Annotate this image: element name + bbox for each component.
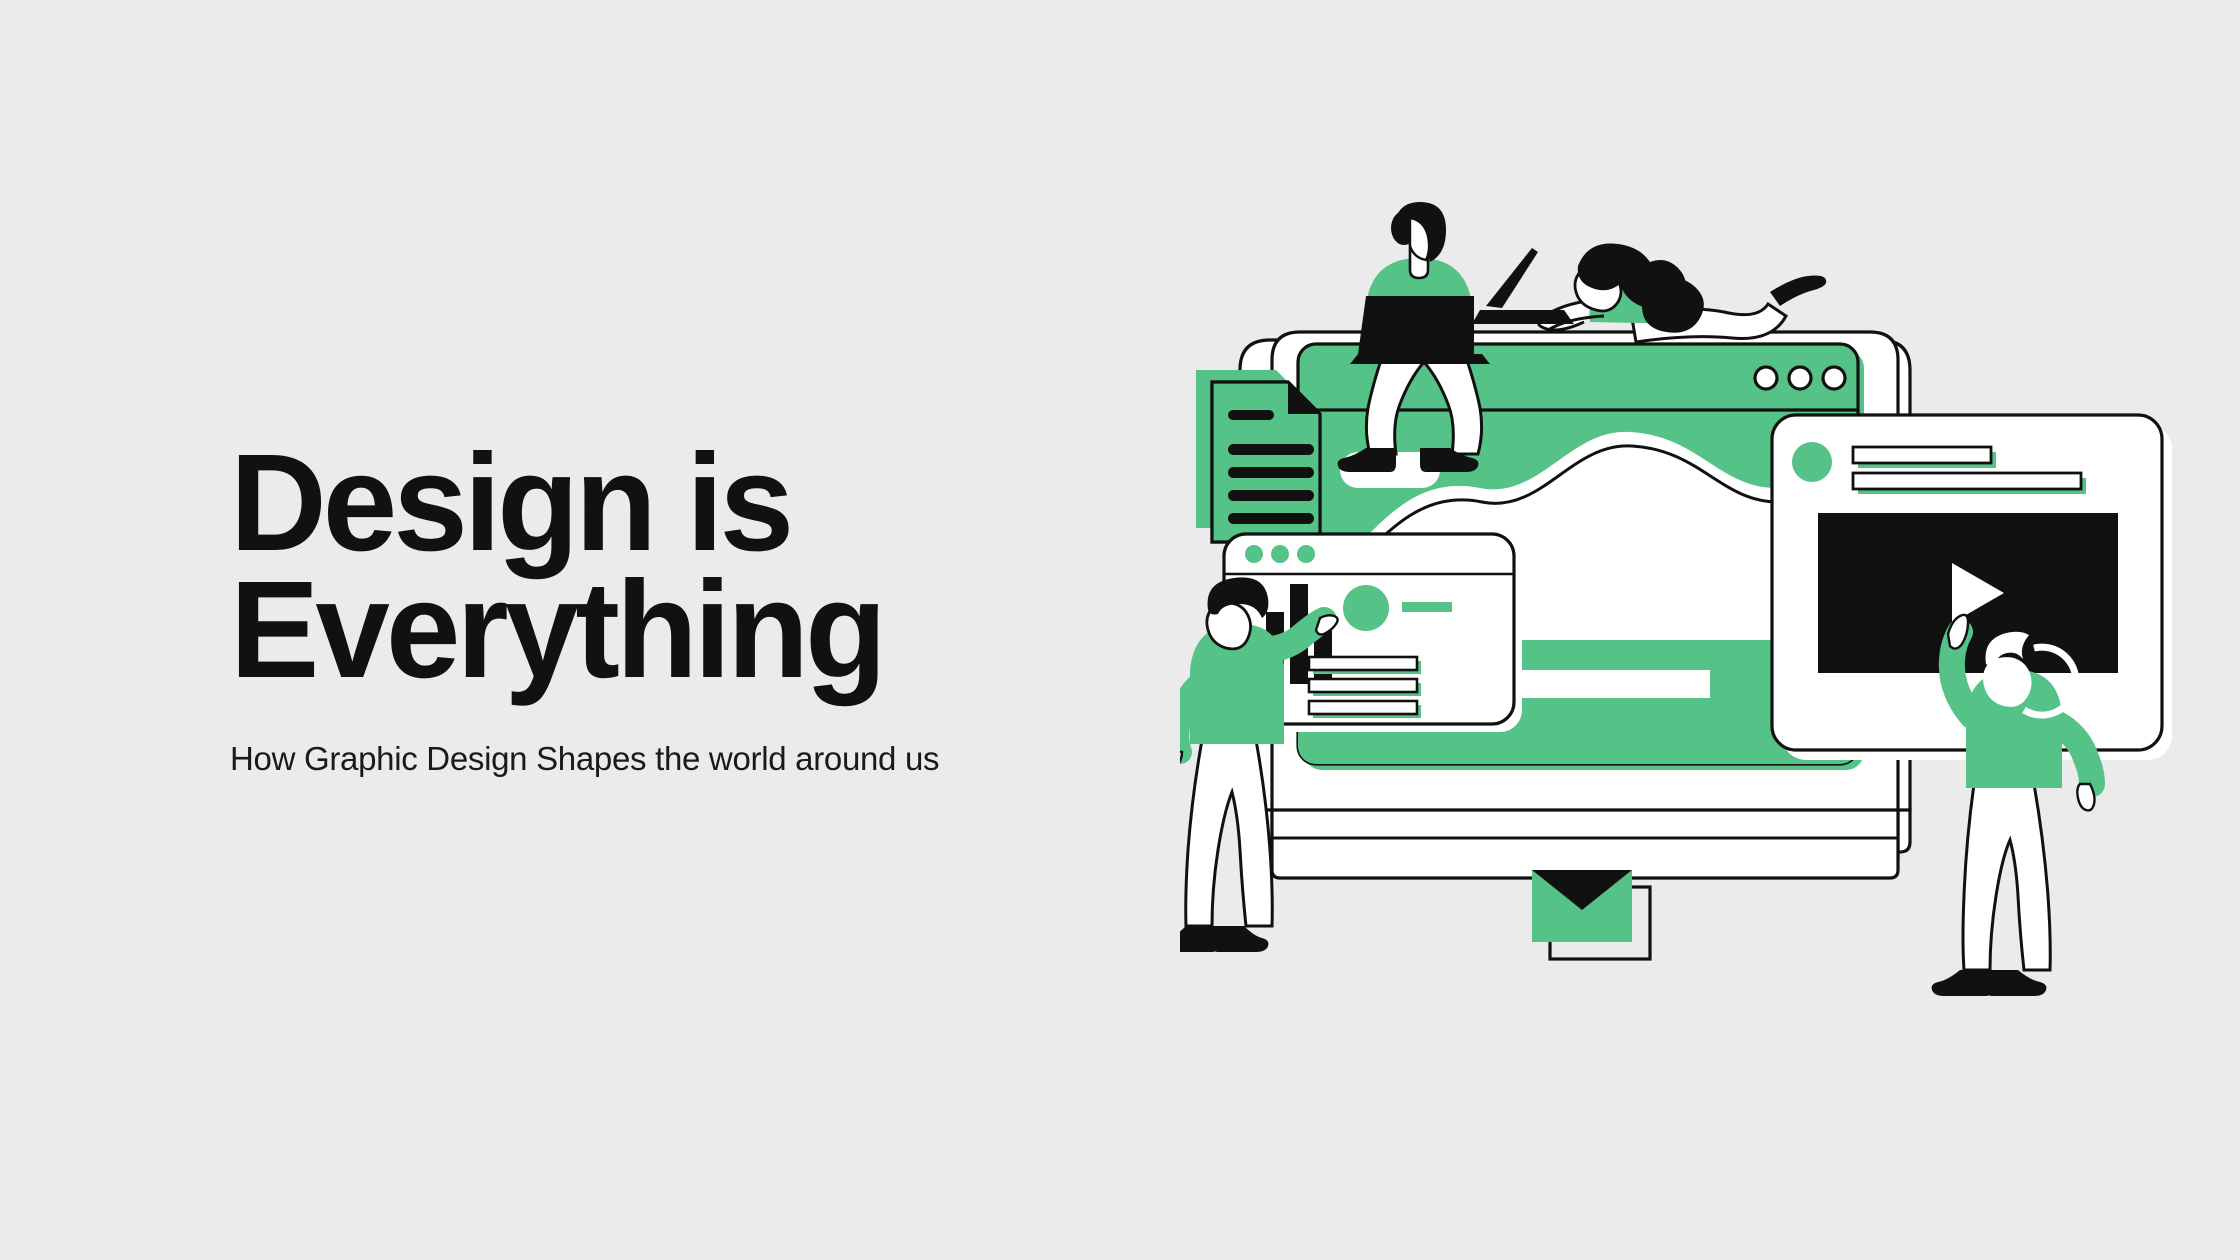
window-base (1272, 810, 1898, 878)
hero-text-block: Design is Everything How Graphic Design … (230, 440, 1130, 783)
window-dot-1[interactable] (1755, 367, 1777, 389)
hand (2077, 784, 2094, 810)
shoe (1770, 276, 1826, 307)
page-subtitle: How Graphic Design Shapes the world arou… (230, 736, 1110, 783)
envelope (1532, 870, 1650, 959)
laptop-base (1472, 310, 1574, 324)
dashboard-dot-3[interactable] (1297, 545, 1315, 563)
shoe-left (1932, 970, 1992, 996)
list-item (1309, 657, 1421, 674)
illustration (1180, 170, 2240, 1170)
content-pill-bottom (1510, 670, 1710, 698)
dashboard-dot-2[interactable] (1271, 545, 1289, 563)
page-title: Design is Everything (230, 440, 1103, 694)
header-row (1853, 447, 1996, 468)
header-row (1853, 473, 2086, 494)
shoe-right (1986, 970, 2046, 996)
dashboard-avatar (1343, 585, 1389, 631)
dashboard-list (1309, 657, 1421, 718)
laptop-screen (1486, 248, 1538, 308)
illustration-root (1180, 202, 2172, 996)
doc-line-5 (1228, 513, 1314, 524)
list-item (1309, 701, 1421, 718)
window-dot-2[interactable] (1789, 367, 1811, 389)
doc-line-1 (1228, 410, 1274, 420)
dashboard-label (1402, 602, 1452, 612)
person-lying-with-laptop (1472, 243, 1826, 342)
document-card (1196, 370, 1320, 542)
window-dot-group (1755, 367, 1845, 389)
video-avatar (1792, 442, 1832, 482)
slide-canvas: Design is Everything How Graphic Design … (0, 0, 2240, 1260)
window-dot-3[interactable] (1823, 367, 1845, 389)
shoe-right (1212, 926, 1268, 952)
laptop (1358, 296, 1474, 354)
dashboard-dot-1[interactable] (1245, 545, 1263, 563)
doc-line-2 (1228, 444, 1314, 455)
list-item (1309, 679, 1421, 696)
doc-line-4 (1228, 490, 1314, 501)
doc-line-3 (1228, 467, 1314, 478)
